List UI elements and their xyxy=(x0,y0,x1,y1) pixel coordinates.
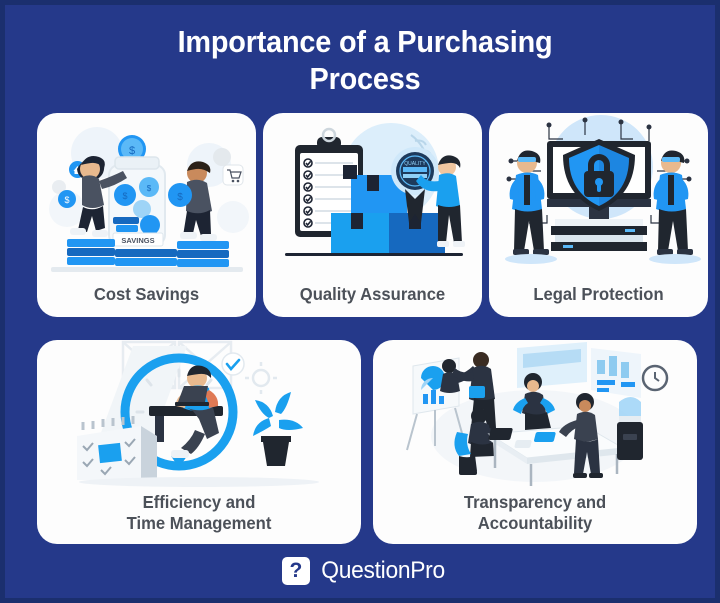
card-legal-protection[interactable]: Legal Protection xyxy=(489,113,708,317)
svg-text:$: $ xyxy=(129,145,135,157)
illustration-cost-savings: $ $ $ $ xyxy=(37,113,256,284)
efficiency-artwork xyxy=(37,340,361,490)
transparency-artwork xyxy=(373,340,697,490)
card-cost-savings[interactable]: $ $ $ $ xyxy=(37,113,256,317)
brand-name: QuestionPro xyxy=(321,557,445,585)
svg-text:QUALITY: QUALITY xyxy=(404,161,426,167)
card-label: Efficiency and Time Management xyxy=(45,492,353,544)
svg-text:$: $ xyxy=(177,192,183,203)
svg-text:$: $ xyxy=(147,184,152,193)
illustration-legal-protection xyxy=(489,113,708,284)
card-label: Cost Savings xyxy=(42,284,250,317)
svg-text:$: $ xyxy=(122,191,127,201)
illustration-quality-assurance: QUALITY xyxy=(263,113,482,284)
infographic-canvas: Importance of a Purchasing Process $ xyxy=(0,0,720,603)
page-title: Importance of a Purchasing Process xyxy=(30,23,700,97)
footer-brand: ? QuestionPro xyxy=(5,557,720,585)
card-efficiency-time-management[interactable]: Efficiency and Time Management xyxy=(37,340,361,544)
cost-savings-artwork: $ $ $ $ xyxy=(37,113,256,278)
card-label: Quality Assurance xyxy=(268,284,476,317)
card-transparency-accountability[interactable]: Transparency and Accountability xyxy=(373,340,697,544)
svg-text:SAVINGS: SAVINGS xyxy=(121,236,154,245)
card-quality-assurance[interactable]: QUALITY Quality Assurance xyxy=(263,113,482,317)
illustration-transparency-accountability xyxy=(373,340,697,492)
questionpro-logo-icon: ? xyxy=(282,557,310,585)
card-label: Legal Protection xyxy=(494,284,702,317)
card-label: Transparency and Accountability xyxy=(381,492,689,544)
illustration-efficiency-time-management xyxy=(37,340,361,492)
quality-assurance-artwork: QUALITY xyxy=(263,113,482,278)
legal-protection-artwork xyxy=(489,113,708,278)
svg-text:$: $ xyxy=(64,195,69,205)
